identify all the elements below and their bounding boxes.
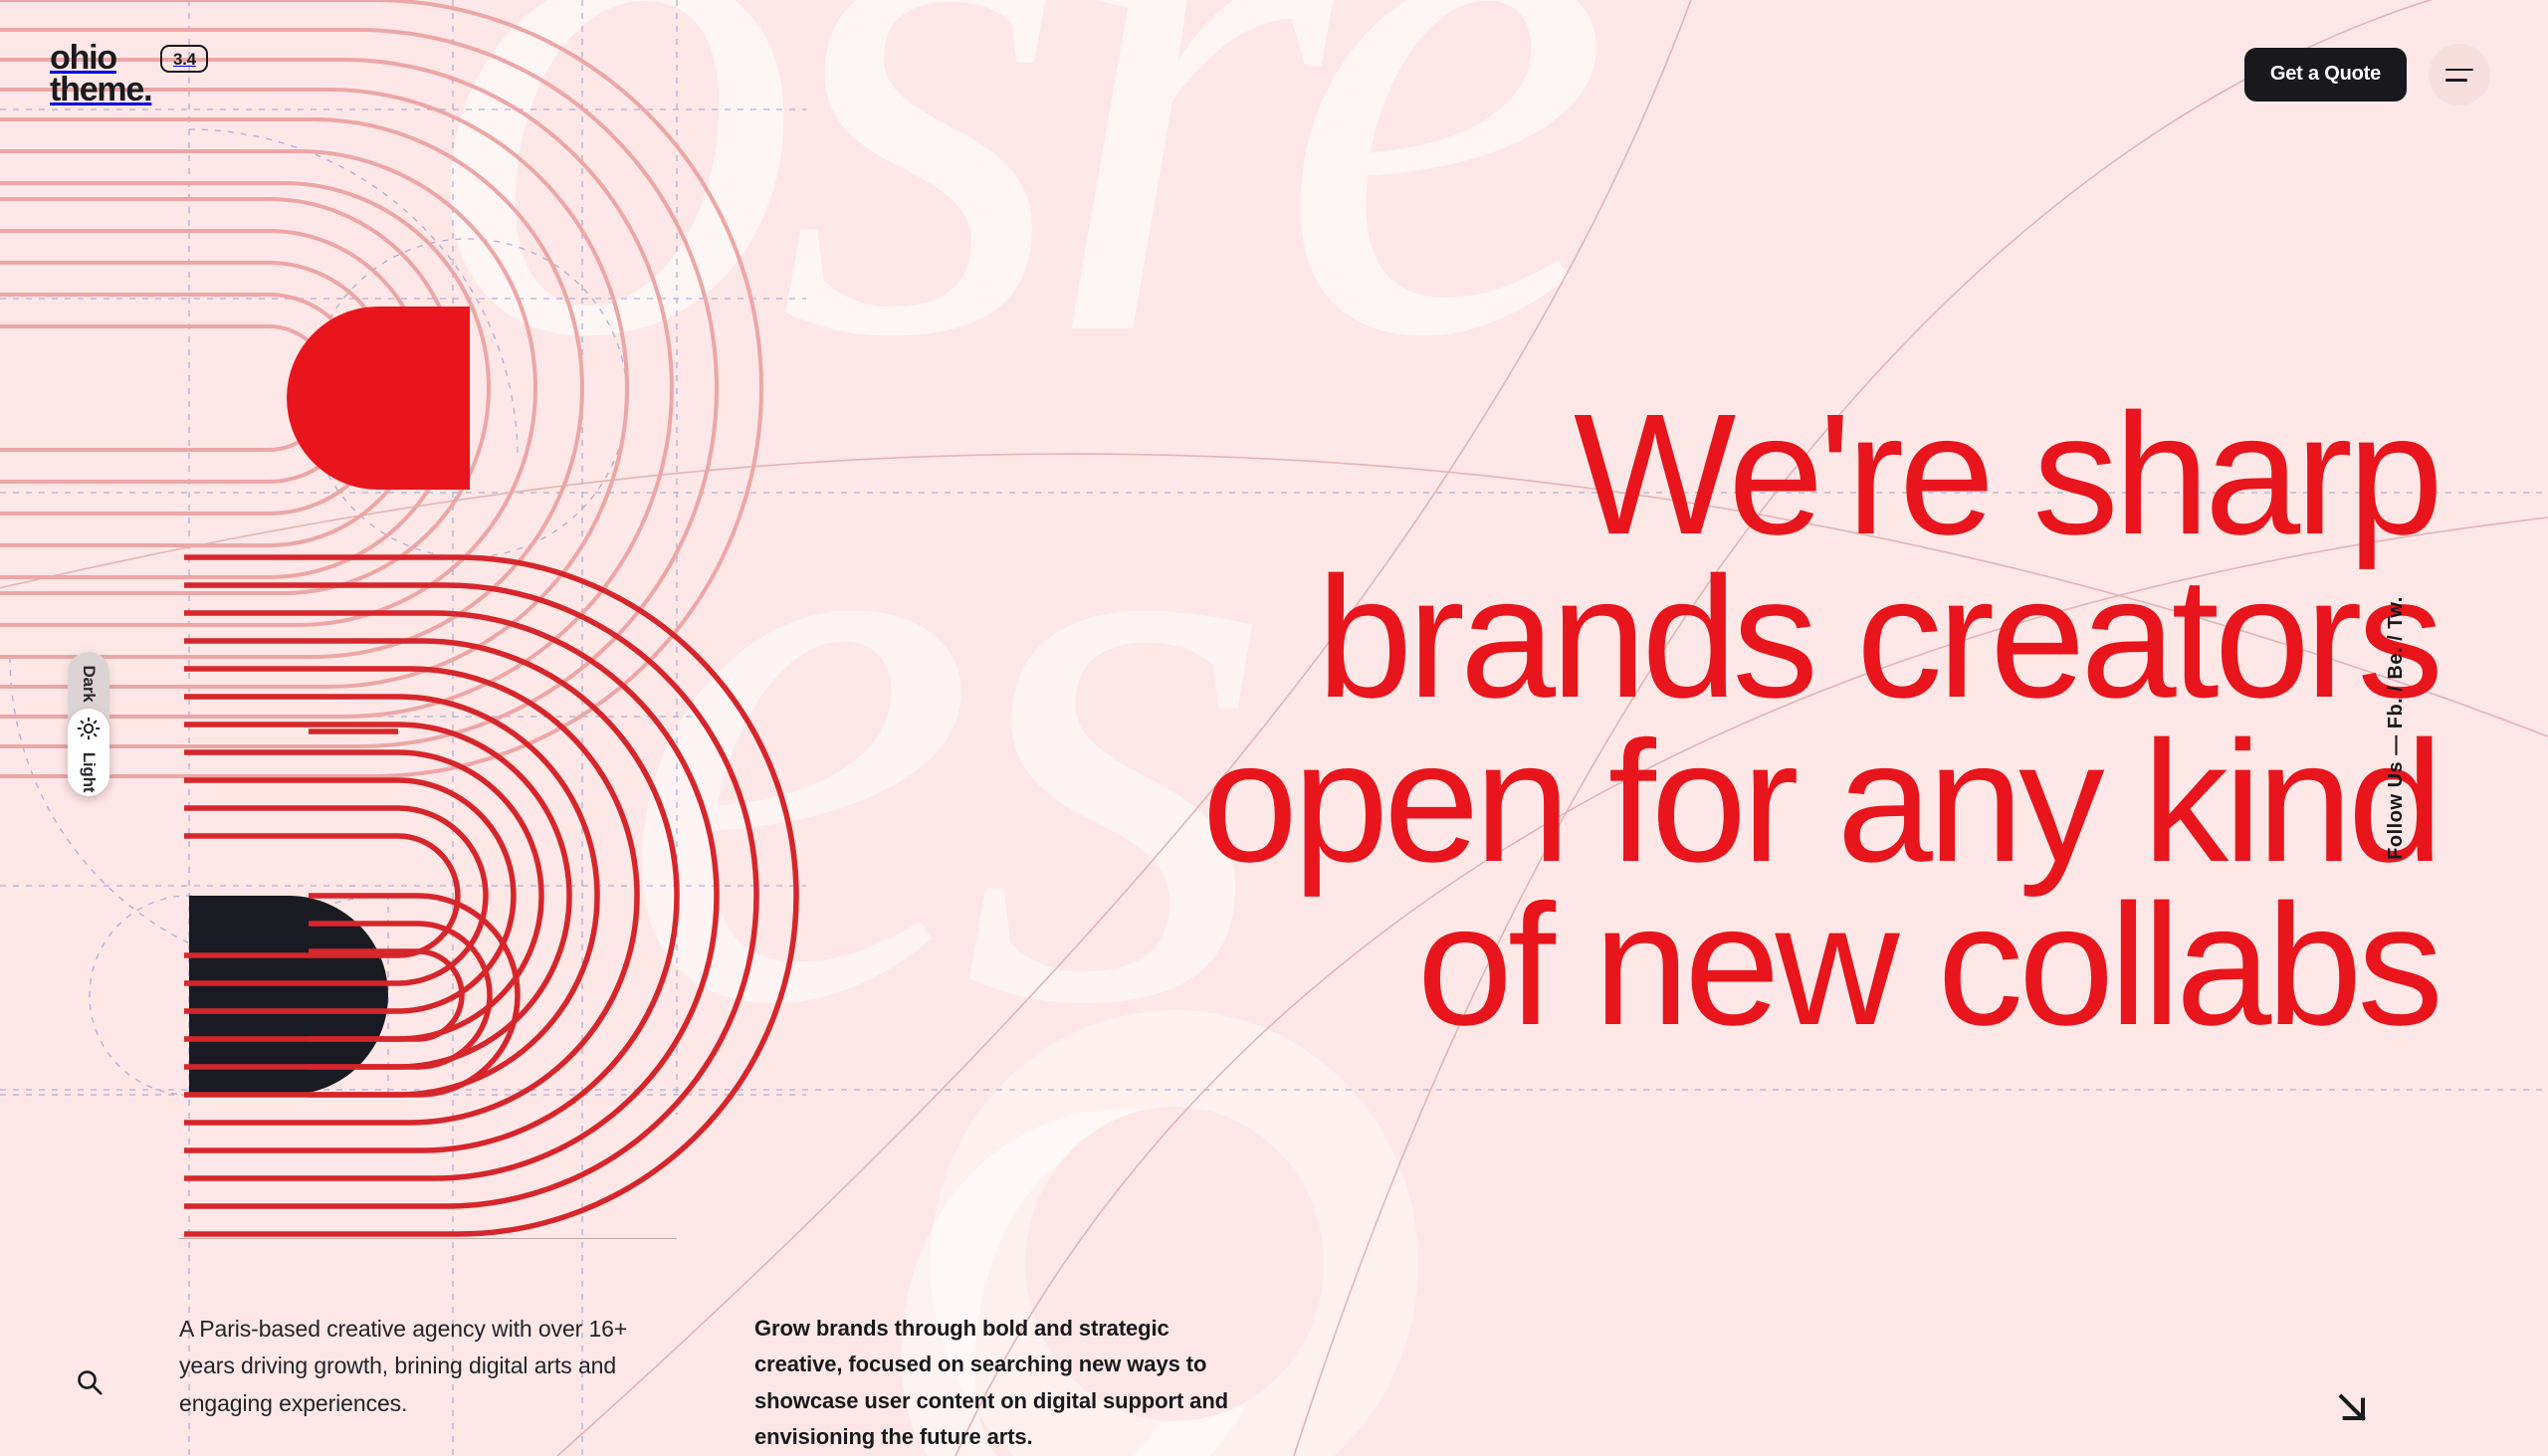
mission-statement-text: Grow brands through bold and strategic c… [754, 1311, 1252, 1456]
menu-bar-top [2445, 69, 2473, 72]
brand-wordmark: ohio theme. [50, 43, 151, 105]
headline-line-2: brands creators [647, 555, 2439, 719]
mission-statement-column: Grow brands through bold and strategic c… [754, 1238, 1252, 1456]
hero-bottom-copy: A Paris-based creative agency with over … [179, 1238, 1252, 1456]
header-actions: Get a Quote [2244, 44, 2490, 105]
hamburger-menu-icon[interactable] [2429, 44, 2490, 105]
sun-icon [77, 717, 101, 740]
theme-toggle-light-label: Light [79, 752, 99, 793]
headline-line-4: of new collabs [647, 883, 2439, 1046]
version-badge: 3.4 [160, 45, 208, 73]
headline-line-3: open for any kind [647, 720, 2439, 883]
menu-bar-bottom [2445, 79, 2467, 82]
hero-page: osre es o [0, 0, 2548, 1456]
theme-toggle[interactable]: Dark Light [68, 652, 109, 796]
hero-headline: We're sharp brands creators open for any… [647, 392, 2439, 1046]
theme-toggle-knob[interactable]: Light [68, 709, 109, 796]
theme-toggle-dark-label: Dark [79, 665, 99, 702]
search-button[interactable] [66, 1358, 113, 1406]
arrow-down-right-icon [2333, 1388, 2373, 1428]
scroll-down-button[interactable] [2327, 1382, 2379, 1434]
agency-description-text: A Paris-based creative agency with over … [179, 1311, 687, 1422]
headline-line-1: We're sharp [647, 392, 2439, 555]
brand-logo[interactable]: ohio theme. 3.4 [50, 43, 208, 105]
get-a-quote-button[interactable]: Get a Quote [2244, 48, 2407, 102]
brand-line-2: theme. [50, 75, 151, 106]
red-half-circle-top [378, 307, 470, 490]
agency-description-column: A Paris-based creative agency with over … [179, 1238, 687, 1422]
follow-us-links[interactable]: Follow Us — Fb. / Be. / Tw. [2385, 596, 2408, 860]
column-divider [179, 1238, 677, 1239]
social-links-rail: Follow Us — Fb. / Be. / Tw. [2264, 529, 2528, 928]
dark-half-circle [189, 896, 289, 1095]
search-icon [75, 1367, 105, 1397]
red-rings-lower [309, 896, 518, 1095]
site-header: ohio theme. 3.4 Get a Quote [0, 0, 2548, 149]
brand-dot: . [143, 71, 151, 108]
